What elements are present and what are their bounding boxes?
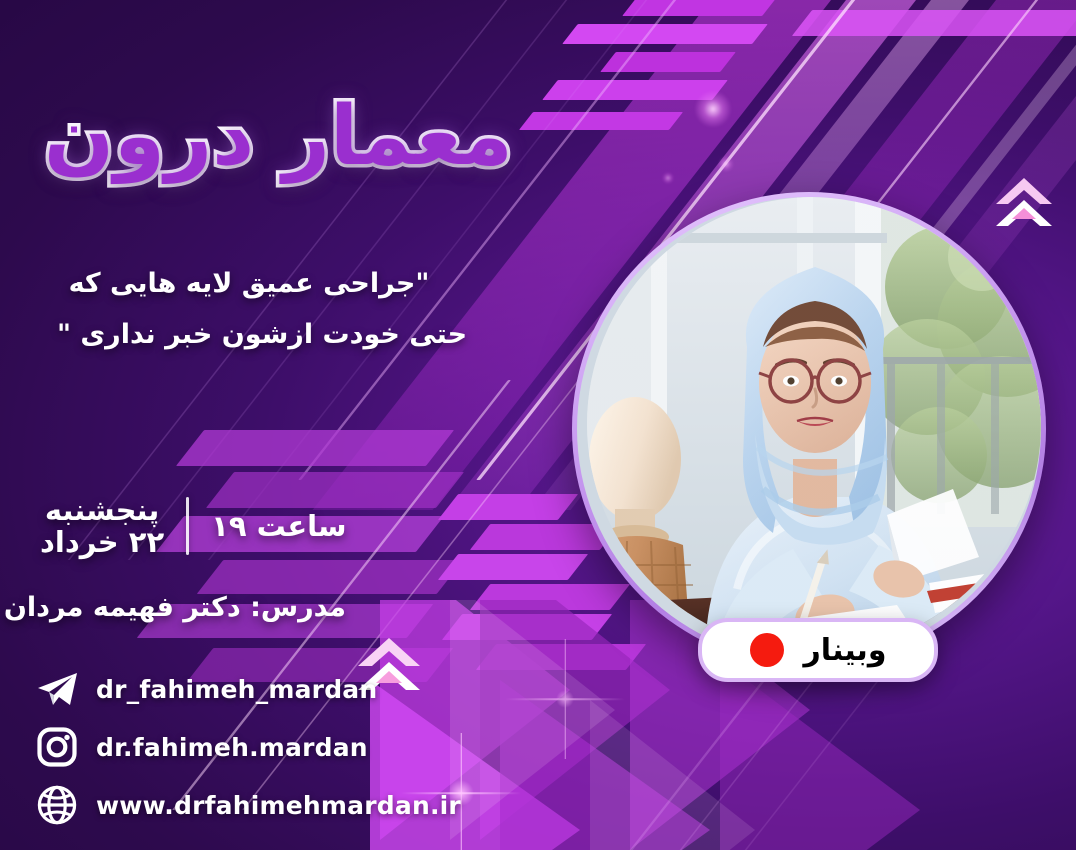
record-dot-icon: [750, 633, 784, 667]
event-date-value: ۲۲ خرداد: [40, 526, 164, 558]
instructor-name: مدرس: دکتر فهیمه مردان: [36, 592, 346, 623]
instagram-icon: [36, 726, 78, 768]
page-title: معمار درون: [44, 96, 513, 178]
event-day: پنجشنبه: [40, 494, 164, 526]
globe-icon: [36, 784, 78, 826]
website-url: www.drfahimehmardan.ir: [96, 791, 461, 820]
status-badge: وبینار: [698, 618, 938, 682]
schedule-divider: [186, 497, 189, 555]
event-date: پنجشنبه ۲۲ خرداد: [40, 494, 164, 559]
telegram-handle: dr_fahimeh_mardan: [96, 675, 377, 704]
telegram-icon: [36, 668, 78, 710]
speaker-photo-illustration: [587, 197, 1041, 651]
schedule-row: پنجشنبه ۲۲ خرداد ساعت ۱۹: [40, 488, 380, 564]
subtitle-line-1: "جراحی عمیق لایه هایی که: [34, 258, 464, 309]
contact-list: dr_fahimeh_mardan dr.fahimeh.mardan: [36, 660, 456, 834]
instagram-handle: dr.fahimeh.mardan: [96, 733, 368, 762]
subtitle-line-2: حتی خودت ازشون خبر نداری ": [34, 309, 490, 360]
subtitle-quote: "جراحی عمیق لایه هایی که حتی خودت ازشون …: [34, 258, 464, 361]
contact-row-telegram[interactable]: dr_fahimeh_mardan: [36, 660, 456, 718]
contact-row-website[interactable]: www.drfahimehmardan.ir: [36, 776, 456, 834]
contact-row-instagram[interactable]: dr.fahimeh.mardan: [36, 718, 456, 776]
webinar-poster: معمار درون "جراحی عمیق لایه هایی که حتی …: [0, 0, 1076, 850]
badge-label: وبینار: [804, 633, 887, 668]
speaker-photo: [577, 197, 1041, 661]
event-time: ساعت ۱۹: [211, 509, 346, 543]
speaker-photo-frame: [572, 192, 1046, 666]
